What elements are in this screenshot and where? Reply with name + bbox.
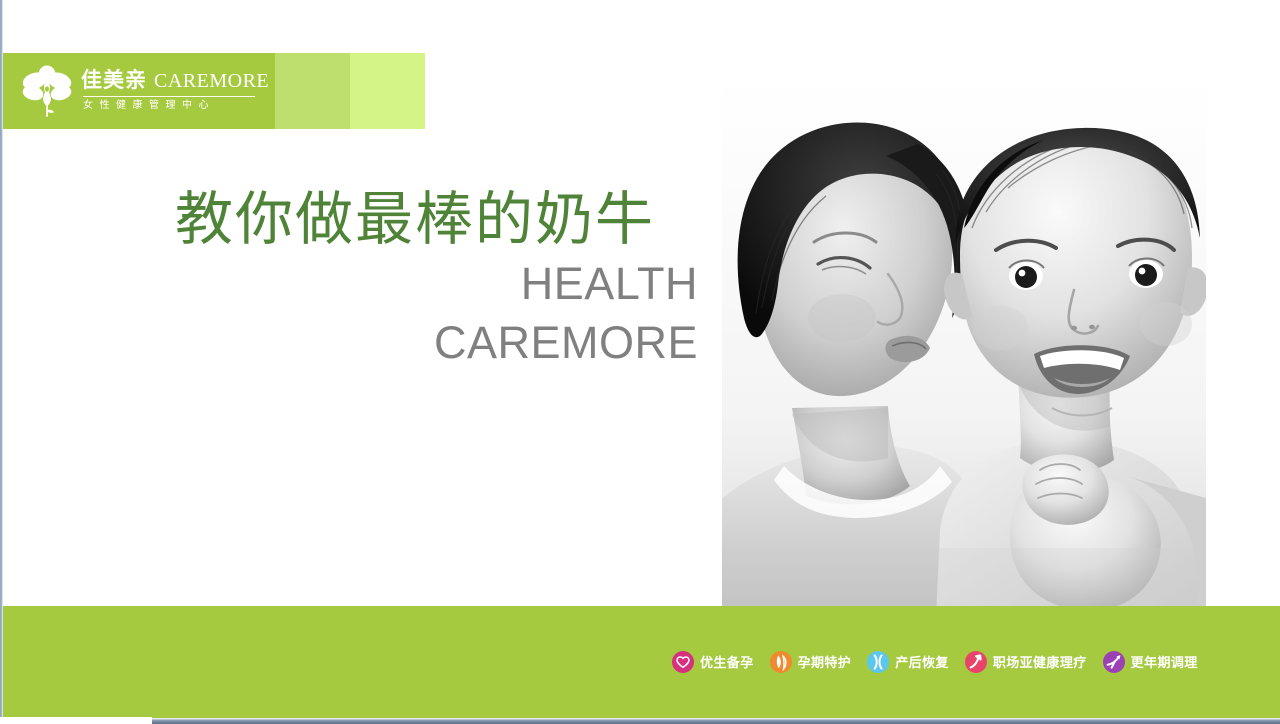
service-badge-label: 孕期特护 bbox=[798, 656, 852, 669]
service-badge-label: 职场亚健康理疗 bbox=[993, 656, 1087, 669]
slide-frame-bottom-left-gap bbox=[0, 717, 152, 724]
slide-canvas: 佳美亲 CAREMORE 女性健康管理中心 教你做最棒的奶牛 HEALTH CA… bbox=[0, 0, 1280, 724]
logo-title-row: 佳美亲 CAREMORE bbox=[81, 70, 269, 91]
service-badge-label: 产后恢复 bbox=[895, 656, 949, 669]
crescent-icon bbox=[770, 651, 792, 673]
service-badge[interactable]: 孕期特护 bbox=[770, 651, 852, 673]
swoosh-check-icon bbox=[1103, 651, 1125, 673]
service-badge[interactable]: 产后恢复 bbox=[867, 651, 949, 673]
slide-frame-bottom-edge bbox=[0, 718, 1280, 724]
logo-content: 佳美亲 CAREMORE 女性健康管理中心 bbox=[3, 53, 275, 129]
slide-title: 教你做最棒的奶牛 bbox=[175, 190, 700, 251]
service-badge-label: 优生备孕 bbox=[700, 656, 754, 669]
slide-subtitle-line-1: HEALTH bbox=[175, 257, 700, 310]
headline-block: 教你做最棒的奶牛 HEALTH CAREMORE bbox=[175, 190, 700, 369]
logo-title-cn: 佳美亲 bbox=[81, 70, 147, 91]
logo-block-mid bbox=[275, 53, 350, 129]
rising-arrow-icon bbox=[965, 651, 987, 673]
orchid-flower-logo-icon bbox=[21, 64, 73, 118]
service-badge-label: 更年期调理 bbox=[1131, 656, 1198, 669]
service-badge[interactable]: 更年期调理 bbox=[1103, 651, 1198, 673]
service-badge-row: 优生备孕 孕期特护 产后恢复 bbox=[672, 648, 1198, 676]
logo-divider-rule bbox=[83, 96, 255, 97]
service-badge[interactable]: 优生备孕 bbox=[672, 651, 754, 673]
mother-kissing-baby-photo bbox=[722, 78, 1206, 617]
logo-block-light bbox=[350, 53, 425, 129]
logo-text-column: 佳美亲 CAREMORE 女性健康管理中心 bbox=[81, 70, 269, 113]
double-arc-icon bbox=[867, 651, 889, 673]
logo-subtitle: 女性健康管理中心 bbox=[81, 101, 269, 111]
logo-title-en: CAREMORE bbox=[154, 71, 269, 91]
service-badge[interactable]: 职场亚健康理疗 bbox=[965, 651, 1087, 673]
slide-subtitle-line-2: CAREMORE bbox=[175, 316, 700, 369]
heart-icon bbox=[672, 651, 694, 673]
logo-bar: 佳美亲 CAREMORE 女性健康管理中心 bbox=[3, 53, 425, 129]
